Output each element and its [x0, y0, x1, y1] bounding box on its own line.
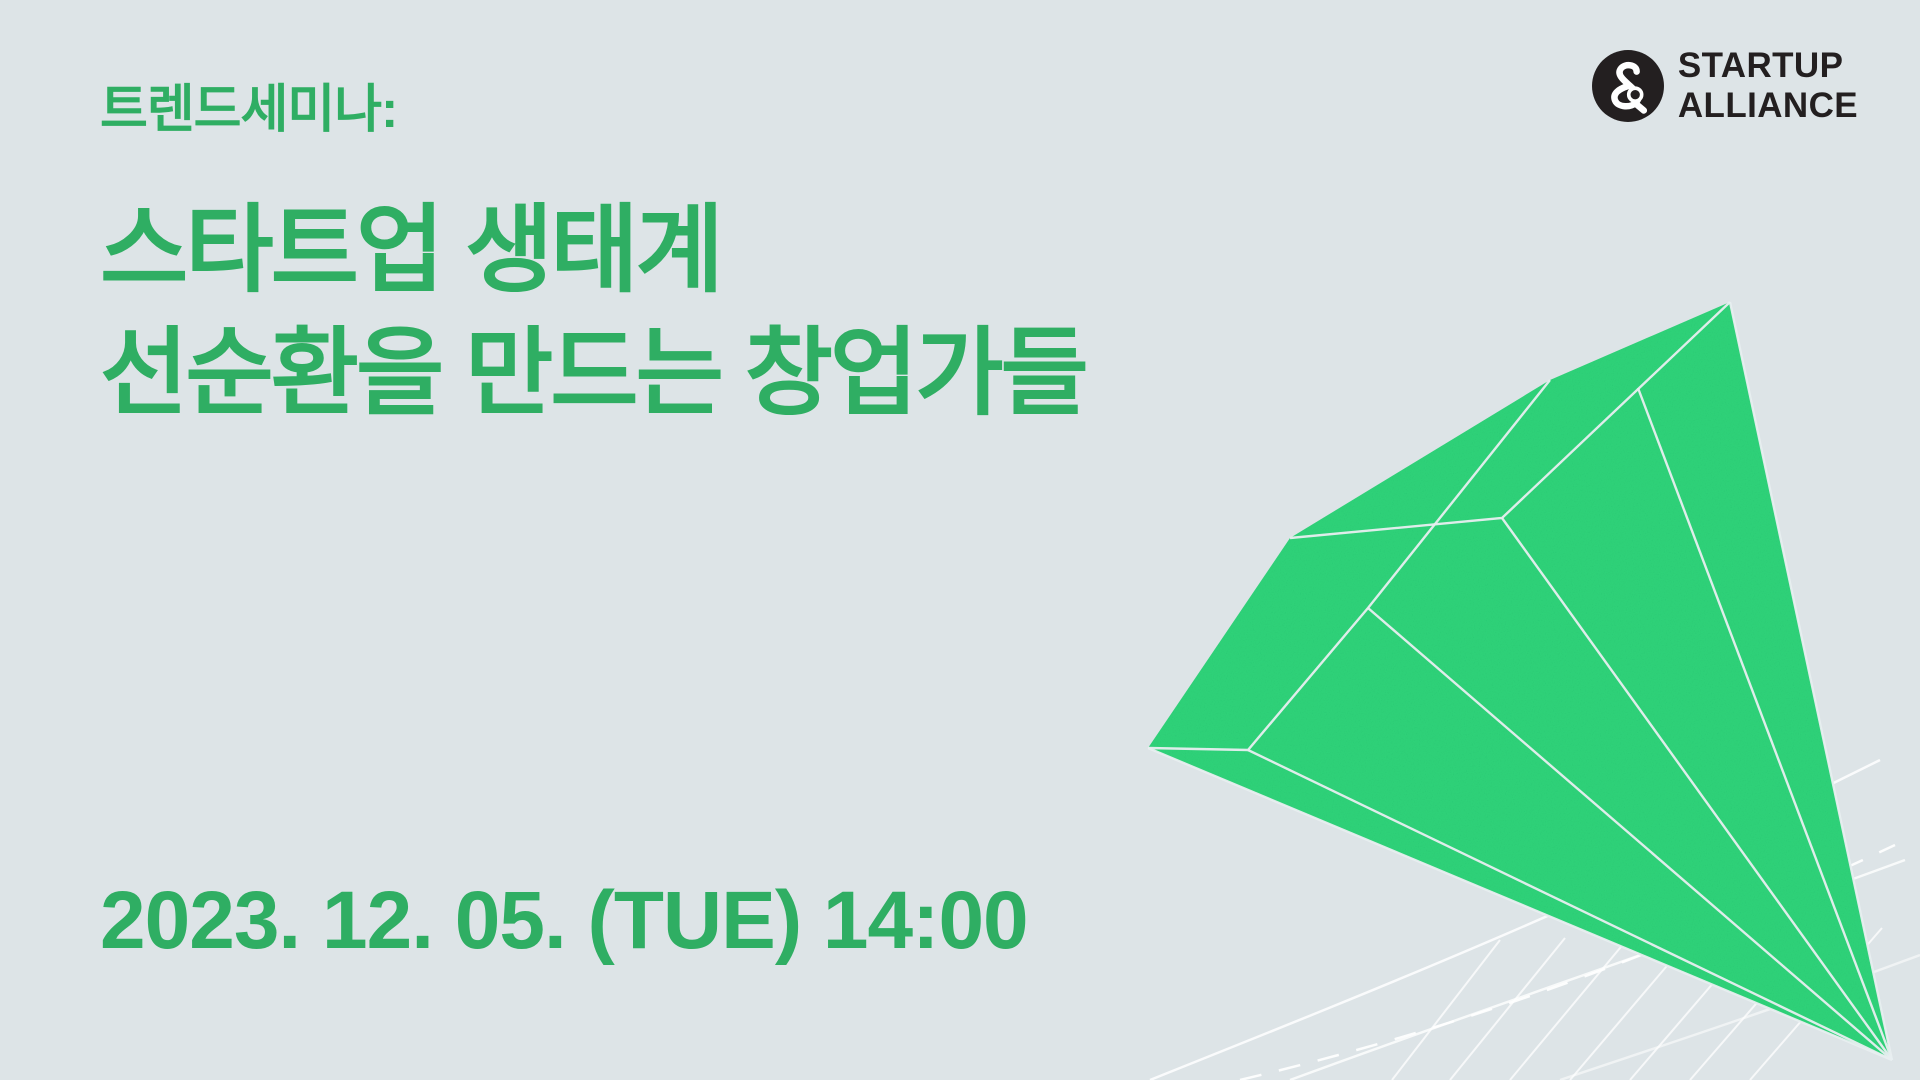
- poster-canvas: STARTUP ALLIANCE 트렌드세미나: 스타트업 생태계 선순환을 만…: [0, 0, 1920, 1080]
- title-line-2: 선순환을 만드는 창업가들: [100, 313, 1086, 436]
- logo-wordmark: STARTUP ALLIANCE: [1678, 48, 1858, 123]
- page-title: 스타트업 생태계 선순환을 만드는 창업가들: [100, 190, 1086, 436]
- startup-alliance-logo: STARTUP ALLIANCE: [1592, 48, 1858, 123]
- ampersand-circle-icon: [1592, 50, 1664, 122]
- green-fan-graphic: [1130, 270, 1920, 1080]
- eyebrow-label: 트렌드세미나:: [100, 84, 1086, 136]
- event-datetime: 2023. 12. 05. (TUE) 14:00: [100, 880, 1028, 962]
- title-line-1: 스타트업 생태계: [100, 190, 1086, 313]
- logo-text-startup: STARTUP: [1678, 48, 1858, 83]
- logo-text-alliance: ALLIANCE: [1678, 88, 1858, 123]
- headline-block: 트렌드세미나: 스타트업 생태계 선순환을 만드는 창업가들: [100, 84, 1086, 436]
